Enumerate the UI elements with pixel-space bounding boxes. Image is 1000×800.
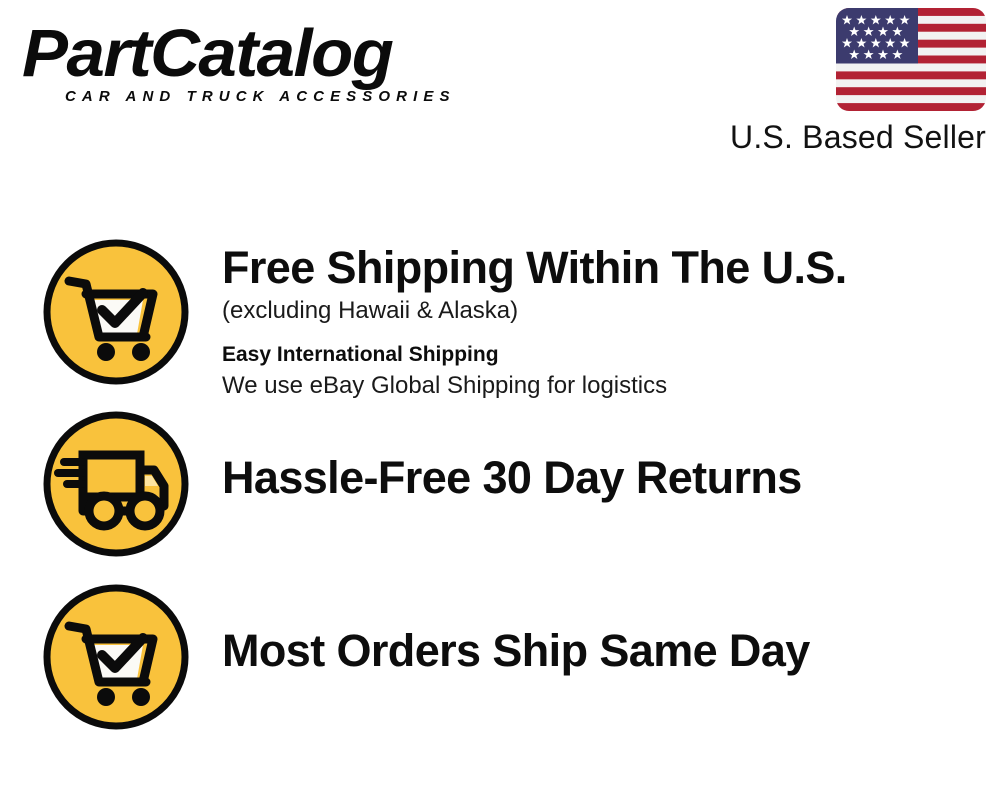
shopping-cart-check-icon — [42, 583, 190, 731]
feature-subtitle: (excluding Hawaii & Alaska) — [222, 294, 982, 327]
feature-text-block: Hassle-Free 30 Day Returns — [222, 452, 982, 504]
delivery-truck-icon — [42, 410, 190, 558]
feature-secondary-body: We use eBay Global Shipping for logistic… — [222, 369, 982, 402]
feature-title: Most Orders Ship Same Day — [222, 625, 982, 677]
feature-title: Hassle-Free 30 Day Returns — [222, 452, 982, 504]
brand-tagline: CAR AND TRUCK ACCESSORIES — [65, 88, 456, 105]
feature-secondary-title: Easy International Shipping — [222, 341, 982, 369]
us-flag-icon — [836, 8, 986, 111]
us-based-seller-label: U.S. Based Seller — [714, 118, 986, 156]
brand-wordmark: PartCatalog — [22, 18, 506, 90]
shopping-cart-check-icon — [42, 238, 190, 386]
feature-text-block: Most Orders Ship Same Day — [222, 625, 982, 677]
brand-logo[interactable]: PartCatalog CAR AND TRUCK ACCESSORIES — [22, 18, 492, 118]
feature-title: Free Shipping Within The U.S. — [222, 242, 982, 294]
feature-text-block: Free Shipping Within The U.S. (excluding… — [222, 242, 982, 402]
us-based-seller-badge: U.S. Based Seller — [714, 8, 986, 156]
